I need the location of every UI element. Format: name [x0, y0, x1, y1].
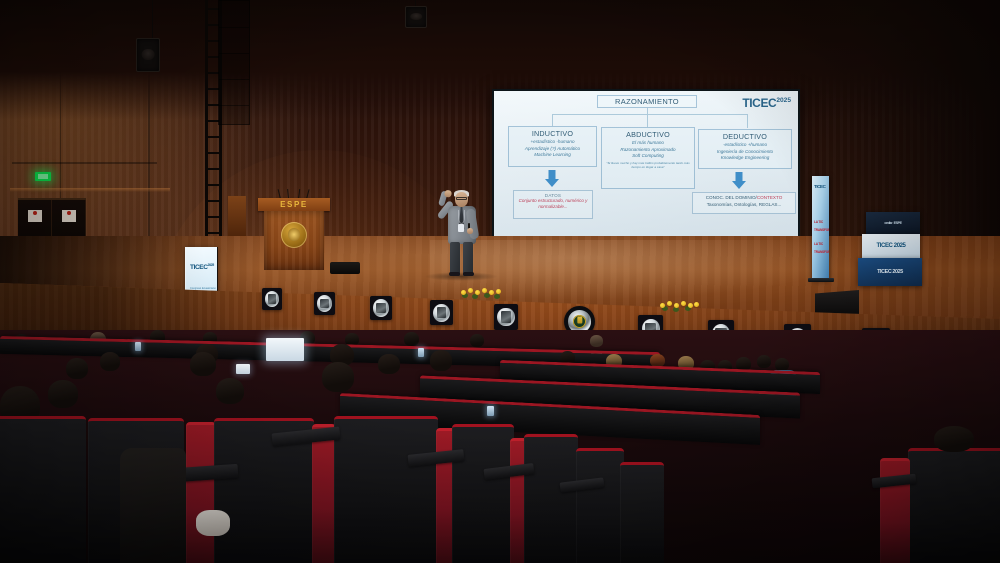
hanging-speaker-left — [136, 38, 160, 72]
glasses-icon — [456, 197, 467, 200]
presenter-badge — [458, 224, 464, 232]
audience-head — [190, 352, 216, 376]
connector — [552, 114, 553, 126]
presenter-hand — [444, 189, 453, 198]
audience-torso — [120, 448, 186, 563]
banner-tagline-4: TRANSFORMA — [814, 250, 829, 254]
presenter-legs — [450, 242, 474, 276]
banner-tagline-2: TRANSFORMA — [814, 228, 829, 232]
audience-head — [322, 362, 354, 392]
podium-body — [264, 211, 324, 270]
audience-head — [430, 350, 452, 371]
audience-head — [404, 332, 419, 346]
audience-head — [216, 378, 244, 404]
stage-equipment-case — [330, 262, 360, 274]
banner-base — [808, 278, 834, 282]
audience-laptop-screen — [266, 338, 304, 361]
banner-logo: TICEC2025 — [190, 263, 214, 271]
seat[interactable] — [908, 448, 1000, 563]
banner-logo: TICEC — [814, 184, 826, 189]
audience-phone — [418, 348, 424, 357]
audience-head — [378, 354, 400, 374]
projection-screen: RAZONAMIENTO TICEC2025 INDUCTIVO +estadí… — [492, 89, 800, 257]
stage-side-pillar — [228, 196, 246, 240]
podium-nameplate: ESPE — [258, 198, 330, 211]
audience-phone — [135, 342, 141, 351]
crest-plaque — [430, 300, 453, 325]
seat[interactable] — [452, 424, 514, 563]
banner-tagline-1: LA TIC — [814, 220, 823, 224]
audience-head — [48, 380, 78, 408]
audience-shoe — [196, 510, 230, 536]
crest-plaque — [314, 292, 335, 315]
audience-head — [590, 335, 603, 347]
connector — [747, 114, 748, 128]
presentation-slide: RAZONAMIENTO TICEC2025 INDUCTIVO +estadí… — [494, 91, 798, 255]
seat[interactable] — [524, 434, 578, 563]
slide-box-deductivo: DEDUCTIVO -estadístico +humano Ingenierí… — [698, 129, 792, 169]
seat[interactable] — [186, 422, 216, 563]
domain-knowledge-line: CONOC. DEL DOMINIO/CONTEXTO — [694, 195, 794, 202]
slide-title: RAZONAMIENTO — [597, 95, 697, 108]
crest-plaque — [262, 288, 282, 310]
seat[interactable] — [312, 424, 336, 563]
audience-tablet — [236, 364, 250, 374]
seat[interactable] — [576, 448, 624, 563]
seat[interactable] — [334, 416, 438, 563]
wall-grille — [218, 0, 250, 125]
espe-seal-emblem — [281, 222, 307, 248]
audience-head — [66, 358, 88, 379]
banner-tagline-3: LA TIC — [814, 242, 823, 246]
connector — [647, 114, 648, 127]
audience-head — [934, 426, 974, 452]
stage-monitor-speaker — [815, 290, 859, 315]
slide-box-inductivo: INDUCTIVO +estadístico -humano Aprendiza… — [508, 126, 597, 167]
display-cube-bottom: TICEC 2025 — [858, 258, 922, 286]
seat[interactable] — [0, 416, 86, 563]
crest-plaque — [370, 296, 392, 320]
presenter-lanyard — [458, 210, 465, 224]
banner-ticec-right: TICEC LA TIC TRANSFORMA LA TIC TRANSFORM… — [812, 176, 829, 280]
slide-output-datos: DATOS Conjunto estructurado, numérico y … — [513, 190, 593, 219]
audience-head — [100, 352, 120, 371]
flower-arrangement — [660, 301, 702, 312]
audience-head — [470, 334, 484, 347]
audience-head — [757, 355, 771, 368]
hanging-speaker-center — [405, 6, 427, 28]
display-cube-top: cedia · ESPE — [866, 212, 920, 234]
slide-output-conocimiento: CONOC. DEL DOMINIO/CONTEXTO Taxonomías, … — [692, 192, 796, 214]
flower-arrangement — [460, 288, 504, 299]
ticec-logo: TICEC2025 — [742, 96, 791, 110]
slide-box-abductivo: ABDUCTIVO El más humano Razonamiento Apr… — [601, 127, 695, 189]
speaker-cable — [152, 0, 153, 38]
auditorium-photo: RAZONAMIENTO TICEC2025 INDUCTIVO +estadí… — [0, 0, 1000, 563]
wall-seam — [12, 162, 157, 164]
seat[interactable] — [620, 462, 664, 563]
audience-phone — [487, 406, 494, 416]
connector — [552, 114, 748, 115]
podium: ESPE — [258, 198, 330, 270]
exit-sign-icon — [35, 172, 51, 181]
presenter-hand — [467, 228, 473, 234]
wall-chair-rail — [10, 188, 170, 192]
audience-seating — [0, 330, 1000, 563]
presenter — [430, 182, 492, 276]
display-cube-middle: TICEC 2025 — [862, 234, 920, 258]
crest-plaque — [494, 304, 518, 330]
